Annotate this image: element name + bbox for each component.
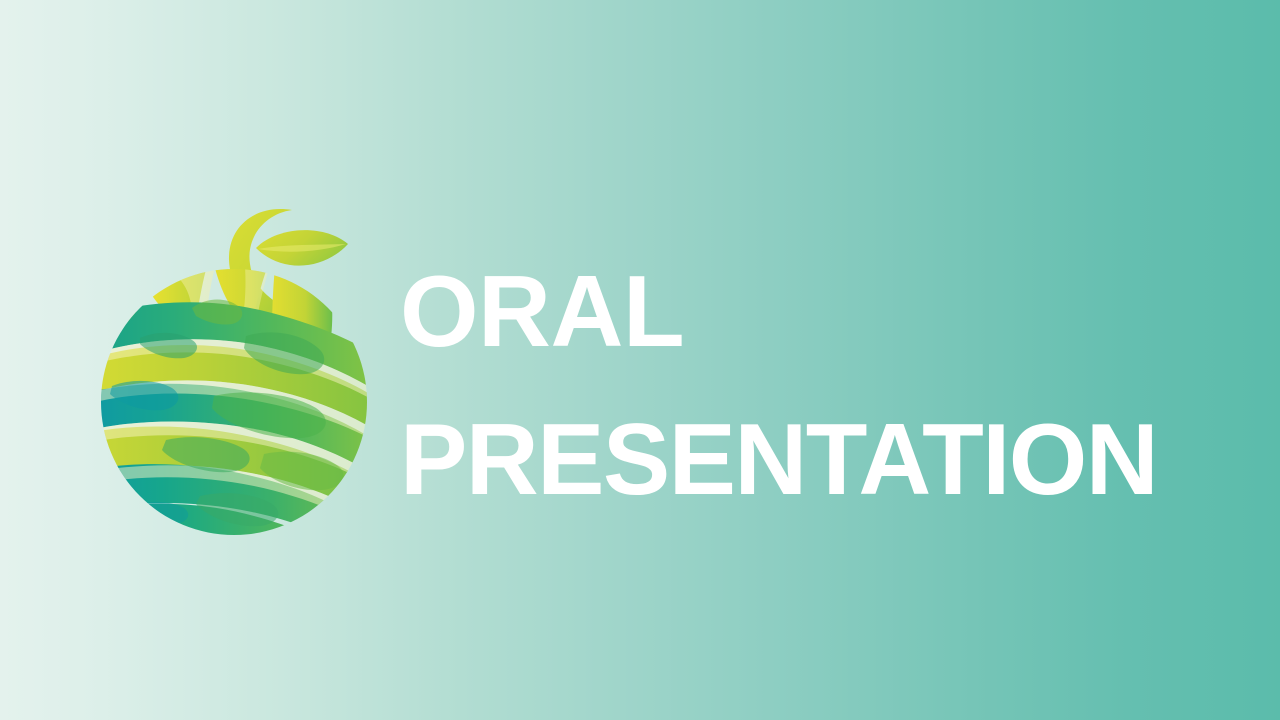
page-title-line-1: ORAL xyxy=(400,238,1200,386)
presentation-slide: ORAL PRESENTATION xyxy=(0,0,1280,720)
title-block: ORAL PRESENTATION xyxy=(400,238,1200,534)
globe-ribbon-leaf-logo xyxy=(96,204,376,520)
page-title-line-2: PRESENTATION xyxy=(400,386,1200,534)
